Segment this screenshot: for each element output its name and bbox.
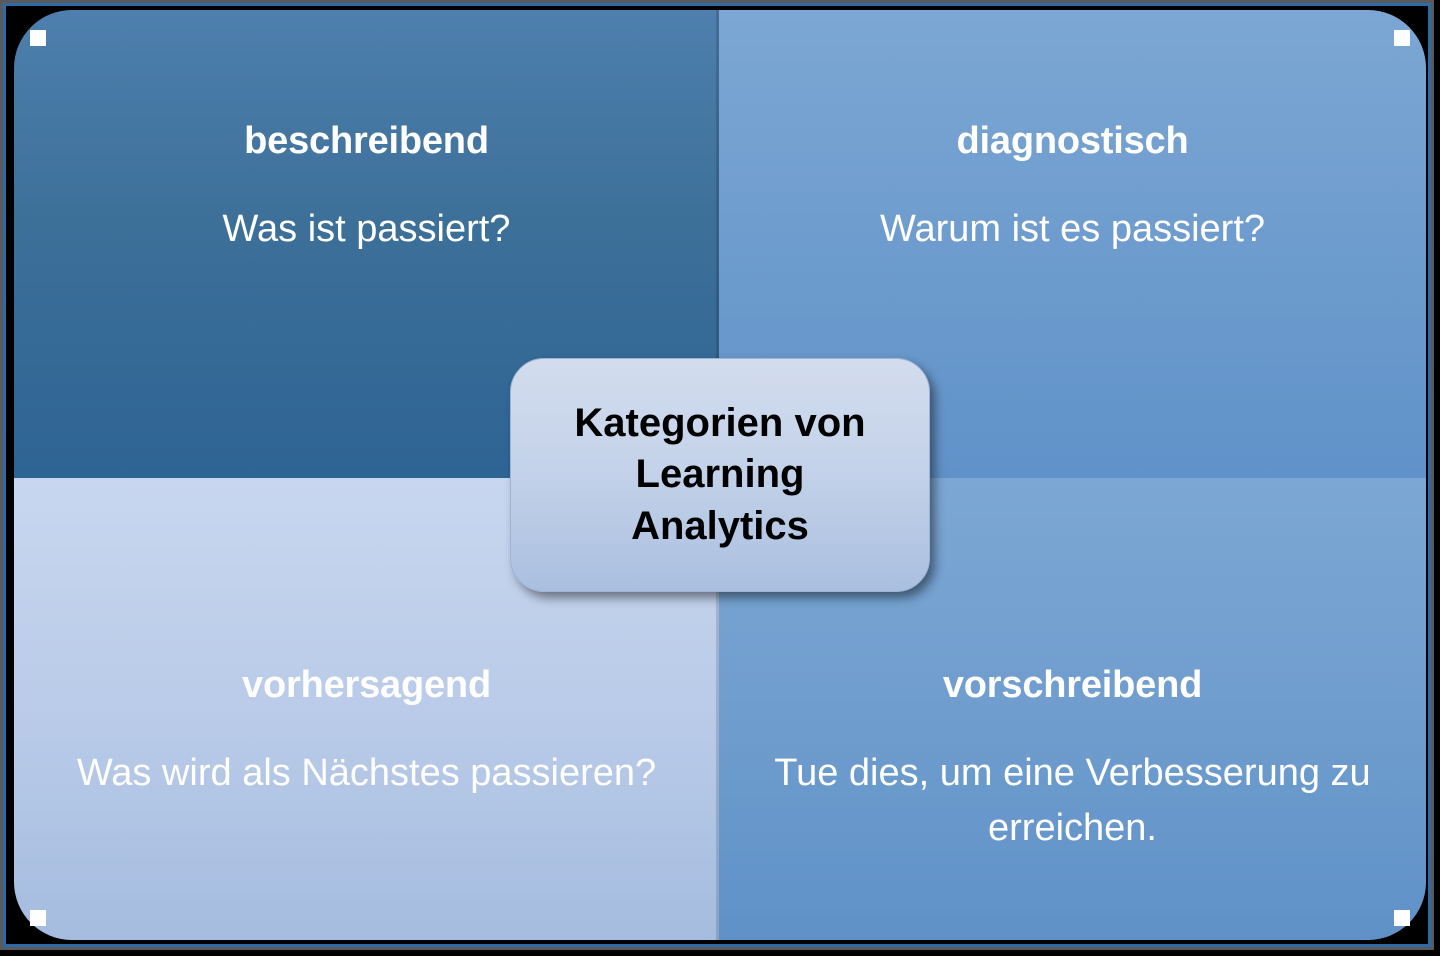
quadrant-predictive-title: vorhersagend: [242, 666, 491, 706]
quadrant-predictive-text: Was wird als Nächstes passieren?: [77, 746, 656, 801]
quadrant-prescriptive-text: Tue dies, um eine Verbesserung zu erreic…: [773, 746, 1373, 856]
resize-handle-top-left[interactable]: [30, 30, 46, 46]
center-label-box[interactable]: Kategorien von Learning Analytics: [510, 358, 930, 592]
quadrant-descriptive-title: beschreibend: [244, 122, 489, 162]
resize-handle-top-right[interactable]: [1394, 30, 1410, 46]
quadrant-diagnostic-title: diagnostisch: [957, 122, 1189, 162]
diagram-canvas: beschreibend Was ist passiert? diagnosti…: [0, 0, 1440, 956]
quadrant-descriptive-text: Was ist passiert?: [223, 202, 511, 257]
resize-handle-bottom-right[interactable]: [1394, 910, 1410, 926]
quadrant-diagnostic-text: Warum ist es passiert?: [880, 202, 1265, 257]
center-label-text: Kategorien von Learning Analytics: [556, 398, 883, 552]
quadrant-prescriptive-title: vorschreibend: [943, 666, 1202, 706]
resize-handle-bottom-left[interactable]: [30, 910, 46, 926]
